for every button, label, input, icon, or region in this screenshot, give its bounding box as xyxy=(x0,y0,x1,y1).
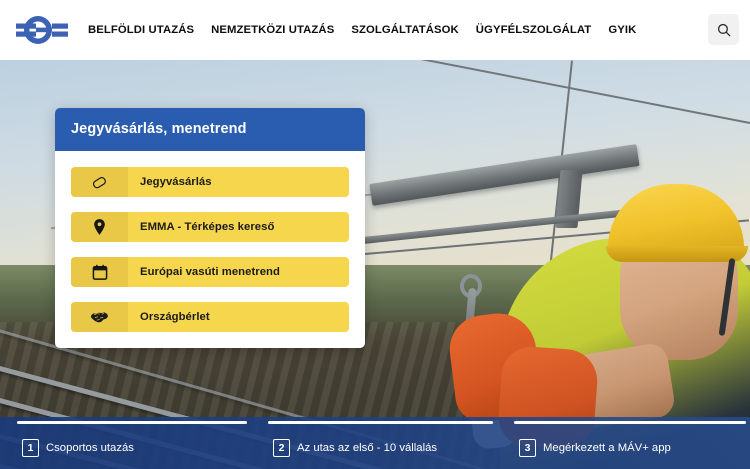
carousel-label-1: Csoportos utazás xyxy=(46,442,134,454)
search-button[interactable] xyxy=(708,14,739,45)
carousel-progress-2[interactable] xyxy=(268,421,493,424)
hungary-map-icon xyxy=(90,310,109,325)
site-header: BELFÖLDI UTAZÁS NEMZETKÖZI UTAZÁS SZOLGÁ… xyxy=(0,0,750,60)
carousel-slide-2[interactable]: 2 Az utas az első - 10 vállalás xyxy=(255,417,500,469)
carousel-badge-2: 2 xyxy=(273,439,290,457)
menu-label-orszagberlet: Országbérlet xyxy=(128,302,210,332)
nav-belfoldi-utazas[interactable]: BELFÖLDI UTAZÁS xyxy=(88,24,194,36)
main-nav: BELFÖLDI UTAZÁS NEMZETKÖZI UTAZÁS SZOLGÁ… xyxy=(88,24,636,36)
nav-ugyfelszolgalat[interactable]: ÜGYFÉLSZOLGÁLAT xyxy=(476,24,592,36)
menu-button-emma[interactable]: EMMA - Térképes kereső xyxy=(71,212,349,242)
menu-button-jegyvasarlas[interactable]: Jegyvásárlás xyxy=(71,167,349,197)
hero-section: Jegyvásárlás, menetrend Jegyvásárlás xyxy=(0,60,750,469)
search-icon xyxy=(717,23,731,37)
calendar-icon xyxy=(92,264,108,281)
nav-gyik[interactable]: GYIK xyxy=(608,24,636,36)
menu-label-europai-menetrend: Európai vasúti menetrend xyxy=(128,257,280,287)
map-pin-icon-wrap xyxy=(71,212,128,242)
carousel-slide-bar: 1 Csoportos utazás 2 Az utas az első - 1… xyxy=(0,417,750,469)
mav-logo[interactable] xyxy=(14,12,70,48)
card-header: Jegyvásárlás, menetrend xyxy=(55,108,365,151)
menu-label-jegyvasarlas: Jegyvásárlás xyxy=(128,167,212,197)
calendar-icon-wrap xyxy=(71,257,128,287)
hungary-map-icon-wrap xyxy=(71,302,128,332)
carousel-label-3: Megérkezett a MÁV+ app xyxy=(543,442,671,454)
carousel-progress-1[interactable] xyxy=(17,421,247,424)
carousel-progress-3[interactable] xyxy=(514,421,746,424)
carousel-label-2: Az utas az első - 10 vállalás xyxy=(297,442,437,454)
carousel-slide-1[interactable]: 1 Csoportos utazás xyxy=(0,417,255,469)
menu-label-emma: EMMA - Térképes kereső xyxy=(128,212,274,242)
menu-button-orszagberlet[interactable]: Országbérlet xyxy=(71,302,349,332)
nav-nemzetkozi-utazas[interactable]: NEMZETKÖZI UTAZÁS xyxy=(211,24,334,36)
carousel-slide-3[interactable]: 3 Megérkezett a MÁV+ app xyxy=(500,417,750,469)
map-pin-icon xyxy=(92,218,107,236)
nav-szolgaltatasok[interactable]: SZOLGÁLTATÁSOK xyxy=(351,24,458,36)
carousel-badge-3: 3 xyxy=(519,439,536,457)
ticket-icon xyxy=(91,174,108,191)
ticket-menu-card: Jegyvásárlás, menetrend Jegyvásárlás xyxy=(55,108,365,348)
carousel-badge-1: 1 xyxy=(22,439,39,457)
mav-logo-icon xyxy=(16,13,68,47)
menu-button-europai-menetrend[interactable]: Európai vasúti menetrend xyxy=(71,257,349,287)
card-title: Jegyvásárlás, menetrend xyxy=(71,121,349,137)
card-body: Jegyvásárlás EMMA - Térképes kereső xyxy=(55,151,365,348)
ticket-icon-wrap xyxy=(71,167,128,197)
